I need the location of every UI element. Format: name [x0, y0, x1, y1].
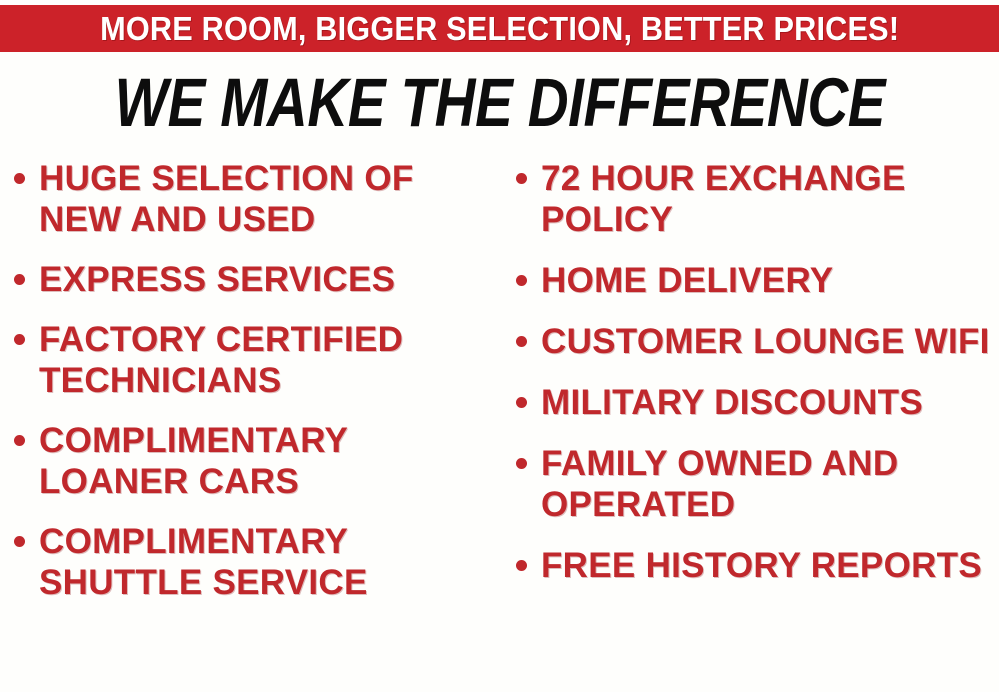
- feature-label: COMPLIMENTARY SHUTTLE SERVICE: [39, 521, 504, 603]
- feature-label: EXPRESS SERVICES: [39, 259, 395, 300]
- main-headline: WE MAKE THE DIFFERENCE: [0, 68, 999, 138]
- promotional-banner: MORE ROOM, BIGGER SELECTION, BETTER PRIC…: [0, 0, 999, 692]
- feature-label: FAMILY OWNED AND OPERATED: [541, 443, 999, 525]
- feature-label: HUGE SELECTION OF NEW AND USED: [39, 158, 504, 240]
- feature-item: COMPLIMENTARY SHUTTLE SERVICE: [14, 521, 504, 603]
- feature-item: HOME DELIVERY: [516, 260, 999, 301]
- feature-item: COMPLIMENTARY LOANER CARS: [14, 420, 504, 502]
- bullet-dot-icon: [14, 435, 25, 446]
- features-columns: HUGE SELECTION OF NEW AND USED EXPRESS S…: [0, 158, 999, 692]
- feature-item: FAMILY OWNED AND OPERATED: [516, 443, 999, 525]
- main-headline-text: WE MAKE THE DIFFERENCE: [114, 68, 885, 138]
- bullet-dot-icon: [516, 275, 527, 286]
- bullet-dot-icon: [516, 173, 527, 184]
- bullet-dot-icon: [14, 536, 25, 547]
- feature-item: 72 HOUR EXCHANGE POLICY: [516, 158, 999, 240]
- top-banner-strip: MORE ROOM, BIGGER SELECTION, BETTER PRIC…: [0, 5, 999, 52]
- feature-item: MILITARY DISCOUNTS: [516, 382, 999, 423]
- bullet-dot-icon: [516, 397, 527, 408]
- features-column-left: HUGE SELECTION OF NEW AND USED EXPRESS S…: [14, 158, 504, 622]
- bullet-dot-icon: [516, 336, 527, 347]
- features-column-right: 72 HOUR EXCHANGE POLICY HOME DELIVERY CU…: [516, 158, 999, 606]
- feature-label: 72 HOUR EXCHANGE POLICY: [541, 158, 999, 240]
- bullet-dot-icon: [14, 274, 25, 285]
- bullet-dot-icon: [14, 173, 25, 184]
- feature-item: FACTORY CERTIFIED TECHNICIANS: [14, 319, 504, 401]
- feature-item: HUGE SELECTION OF NEW AND USED: [14, 158, 504, 240]
- bullet-dot-icon: [14, 334, 25, 345]
- feature-label: MILITARY DISCOUNTS: [541, 382, 923, 423]
- bullet-dot-icon: [516, 458, 527, 469]
- feature-label: FREE HISTORY REPORTS: [541, 545, 982, 586]
- feature-label: HOME DELIVERY: [541, 260, 833, 301]
- top-banner-headline: MORE ROOM, BIGGER SELECTION, BETTER PRIC…: [100, 12, 899, 45]
- bullet-dot-icon: [516, 560, 527, 571]
- feature-item: EXPRESS SERVICES: [14, 259, 504, 300]
- feature-label: COMPLIMENTARY LOANER CARS: [39, 420, 504, 502]
- feature-label: FACTORY CERTIFIED TECHNICIANS: [39, 319, 504, 401]
- feature-item: FREE HISTORY REPORTS: [516, 545, 999, 586]
- feature-label: CUSTOMER LOUNGE WIFI: [541, 321, 990, 362]
- feature-item: CUSTOMER LOUNGE WIFI: [516, 321, 999, 362]
